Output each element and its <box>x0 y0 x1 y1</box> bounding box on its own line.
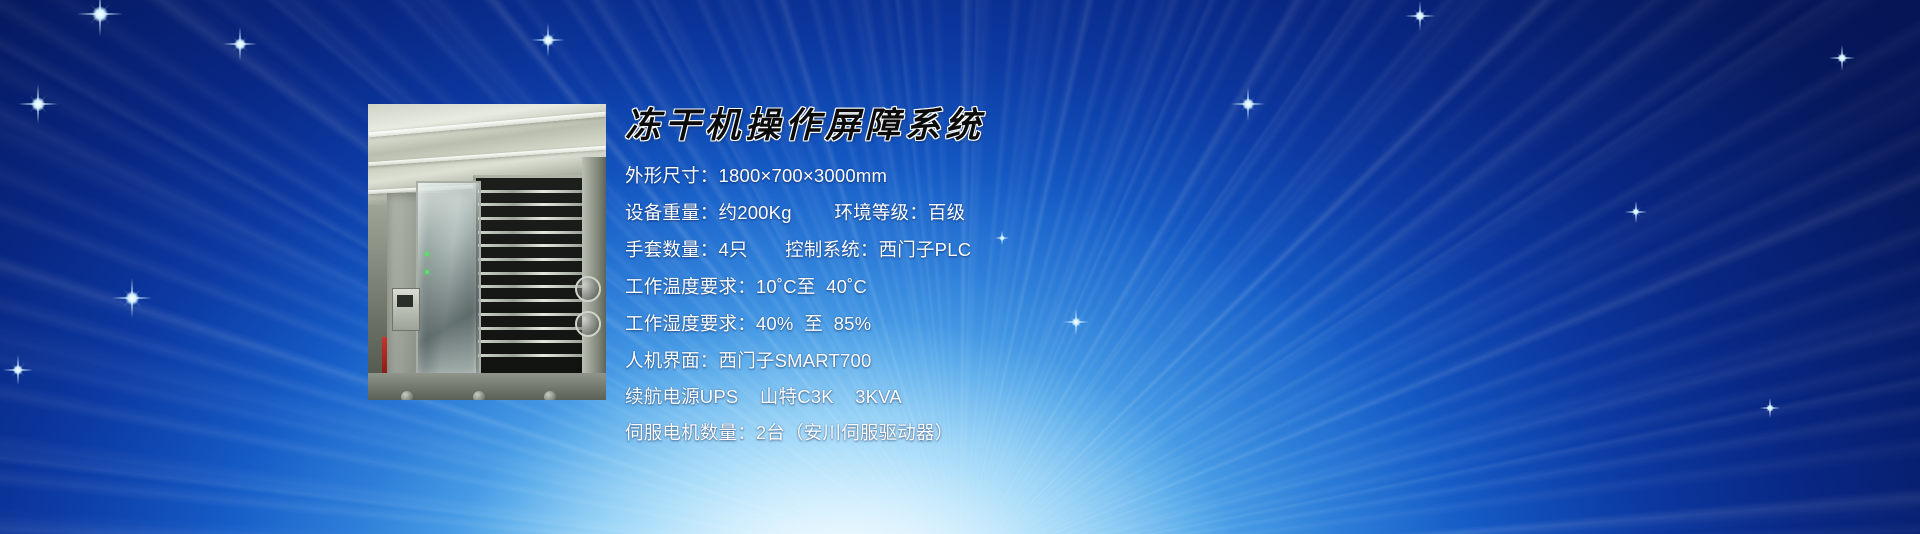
spec-line: 工作温度要求：10˚C至 40˚C <box>625 273 1225 300</box>
spec-line: 续航电源UPS 山特C3K 3KVA <box>625 383 1225 410</box>
page-title: 冻干机操作屏障系统 <box>625 104 1225 148</box>
photo-panel-screen <box>397 295 414 307</box>
photo-shelf <box>478 354 597 357</box>
photo-shelf <box>478 217 597 220</box>
spec-line: 工作湿度要求：40% 至 85% <box>625 310 1225 337</box>
photo-caster-2 <box>473 391 485 400</box>
photo-shelf <box>478 258 597 261</box>
specification-list: 外形尺寸：1800×700×3000mm设备重量：约200Kg 环境等级：百级手… <box>625 162 1225 446</box>
photo-shelf <box>478 340 597 343</box>
photo-shelf <box>478 299 597 302</box>
photo-shelf <box>478 272 597 275</box>
spec-line: 设备重量：约200Kg 环境等级：百级 <box>625 199 1225 226</box>
photo-indicator-light-2 <box>425 270 429 274</box>
photo-shelf <box>478 244 597 247</box>
photo-shelf <box>478 231 597 234</box>
product-info-block: 冻干机操作屏障系统 外形尺寸：1800×700×3000mm设备重量：约200K… <box>625 104 1225 455</box>
photo-glass-door <box>416 181 482 380</box>
photo-drying-chamber <box>473 175 600 373</box>
spec-line: 人机界面：西门子SMART700 <box>625 347 1225 374</box>
spec-line: 伺服电机数量：2台（安川伺服驱动器） <box>625 419 1225 446</box>
photo-right-frame <box>582 157 606 388</box>
spec-line: 外形尺寸：1800×700×3000mm <box>625 162 1225 189</box>
promotional-banner: 冻干机操作屏障系统 外形尺寸：1800×700×3000mm设备重量：约200K… <box>0 0 1920 534</box>
product-photo <box>368 104 606 400</box>
spec-line: 手套数量：4只 控制系统：西门子PLC <box>625 236 1225 263</box>
photo-shelf <box>478 190 597 193</box>
photo-red-stripe <box>382 337 387 373</box>
photo-port-1 <box>575 276 601 302</box>
photo-shelf <box>478 203 597 206</box>
photo-caster-1 <box>401 391 413 400</box>
photo-caster-3 <box>544 391 556 400</box>
